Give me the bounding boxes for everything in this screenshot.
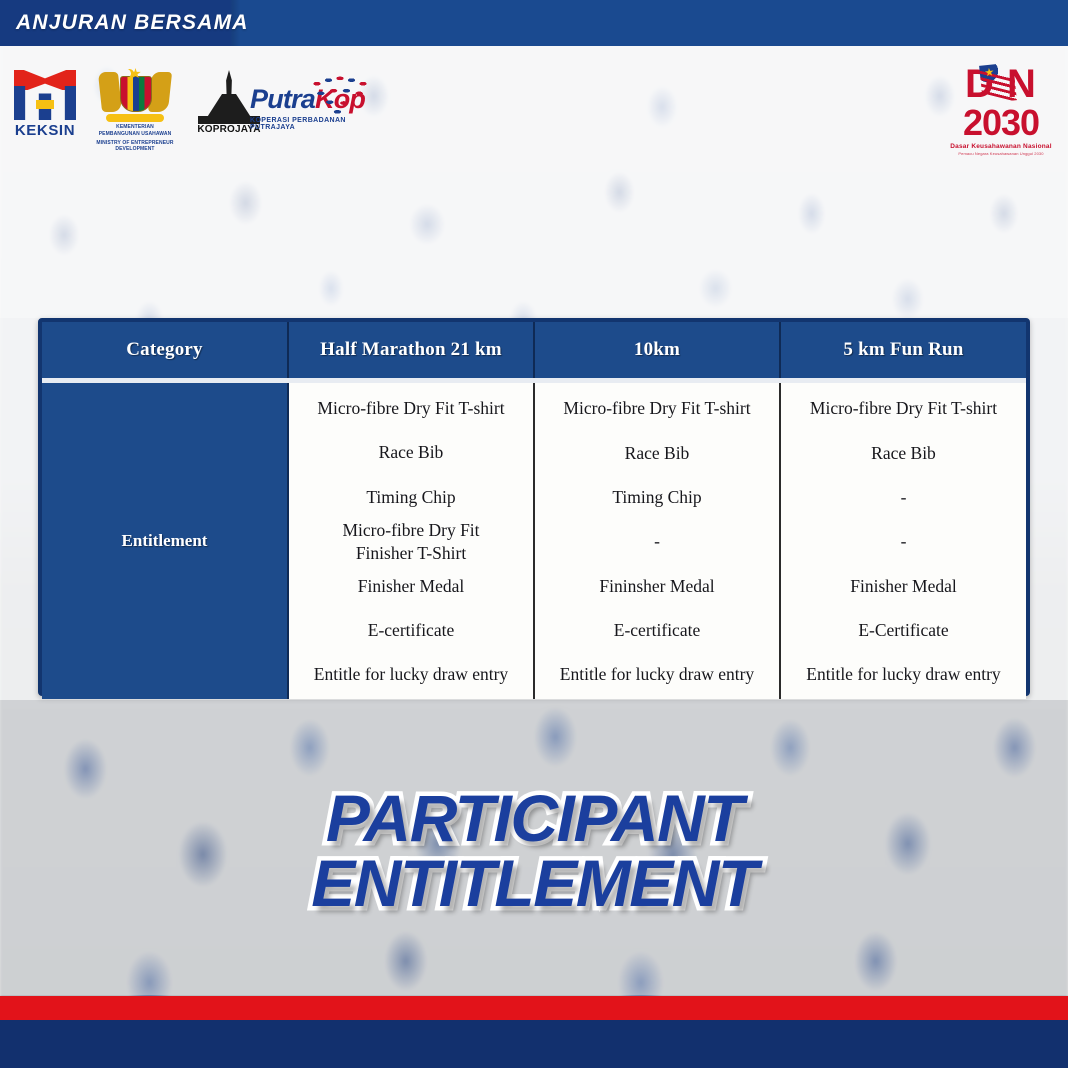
page-title: PARTICIPANT ENTITLEMENT (0, 786, 1068, 915)
table-row: Entitlement Micro-fibre Dry Fit T-shirt … (42, 381, 1026, 700)
list-item: E-Certificate (787, 608, 1020, 652)
list-item: Finisher Medal (295, 565, 527, 609)
cell-5km-fun-run: Micro-fibre Dry Fit T-shirt Race Bib - -… (780, 381, 1026, 700)
dkn-caption-secondary: Pemacu Negara Keusahawanan Unggul 2030 (948, 151, 1054, 156)
page-title-line-2: ENTITLEMENT (0, 851, 1068, 916)
list-item: Entitle for lucky draw entry (541, 653, 773, 697)
malaysia-flag-icon (979, 62, 1017, 103)
putrakop-fish-swoosh-icon (308, 74, 372, 118)
keksin-logo-label: KEKSIN (14, 122, 76, 139)
footer-red-bar (0, 996, 1068, 1020)
keksin-logo: KEKSIN (14, 70, 76, 142)
list-item: - (541, 520, 773, 564)
entitlement-list-10km: Micro-fibre Dry Fit T-shirt Race Bib Tim… (535, 383, 779, 699)
dkn-2030-logo: D N 2030 Dasar Keusahawanan Nasional Pem… (948, 62, 1054, 154)
entitlement-list-5km: Micro-fibre Dry Fit T-shirt Race Bib - -… (781, 383, 1026, 699)
entitlement-list-half-marathon: Micro-fibre Dry Fit T-shirt Race Bib Tim… (289, 383, 533, 699)
table-header-row: Category Half Marathon 21 km 10km 5 km F… (42, 322, 1026, 381)
column-header-5km-fun-run: 5 km Fun Run (780, 322, 1026, 381)
footer-blue-bar (0, 1020, 1068, 1068)
putrakop-word-a: Putra (250, 84, 315, 114)
list-item: Micro-fibre Dry FitFinisher T-Shirt (295, 519, 527, 565)
list-item: Race Bib (295, 431, 527, 475)
column-header-half-marathon: Half Marathon 21 km (288, 322, 534, 381)
entitlement-table: Category Half Marathon 21 km 10km 5 km F… (42, 322, 1026, 699)
list-item: Entitle for lucky draw entry (787, 653, 1020, 697)
list-item: Race Bib (787, 431, 1020, 475)
page-title-line-1: PARTICIPANT (326, 781, 742, 855)
list-item: Timing Chip (541, 476, 773, 520)
list-item: Entitle for lucky draw entry (295, 653, 527, 697)
putrakop-logo: PutraKop KOPERASI PERBADANAN PUTRAJAYA (250, 70, 370, 150)
poster-canvas: ANJURAN BERSAMA KEKSIN KEMENTERIAN PEMBA… (0, 0, 1068, 1068)
list-item: Micro-fibre Dry Fit T-shirt (541, 387, 773, 431)
dkn-caption: Dasar Keusahawanan Nasional (948, 143, 1054, 150)
banner-title: ANJURAN BERSAMA (16, 11, 249, 35)
dkn-year: 2030 (948, 106, 1054, 140)
list-item: Finisher Medal (787, 564, 1020, 608)
list-item: E-certificate (295, 609, 527, 653)
list-item: Micro-fibre Dry Fit T-shirt (787, 387, 1020, 431)
column-header-category: Category (42, 322, 288, 381)
dkn-acronym: D N (948, 62, 1054, 106)
list-item: Fininsher Medal (541, 564, 773, 608)
list-item: E-certificate (541, 608, 773, 652)
cell-half-marathon: Micro-fibre Dry Fit T-shirt Race Bib Tim… (288, 381, 534, 700)
column-header-10km: 10km (534, 322, 780, 381)
list-item: Race Bib (541, 431, 773, 475)
keksin-mark-icon (14, 70, 76, 120)
list-item: Micro-fibre Dry Fit T-shirt (295, 387, 527, 431)
putrakop-subtitle: KOPERASI PERBADANAN PUTRAJAYA (250, 117, 370, 131)
ministry-name-en: MINISTRY OF ENTREPRENEUR DEVELOPMENT (96, 140, 174, 154)
entitlement-table-container: Category Half Marathon 21 km 10km 5 km F… (38, 318, 1030, 696)
jata-negara-crest-icon (96, 66, 174, 122)
ministry-name-ms: KEMENTERIAN PEMBANGUNAN USAHAWAN (96, 124, 174, 138)
logo-strip: KEKSIN KEMENTERIAN PEMBANGUNAN USAHAWAN … (0, 46, 1068, 160)
row-label-entitlement: Entitlement (42, 381, 288, 700)
jata-negara-logo: KEMENTERIAN PEMBANGUNAN USAHAWAN MINISTR… (96, 66, 174, 146)
top-banner: ANJURAN BERSAMA (0, 0, 1068, 46)
cell-10km: Micro-fibre Dry Fit T-shirt Race Bib Tim… (534, 381, 780, 700)
list-item: - (787, 476, 1020, 520)
list-item: - (787, 520, 1020, 564)
list-item: Timing Chip (295, 475, 527, 519)
